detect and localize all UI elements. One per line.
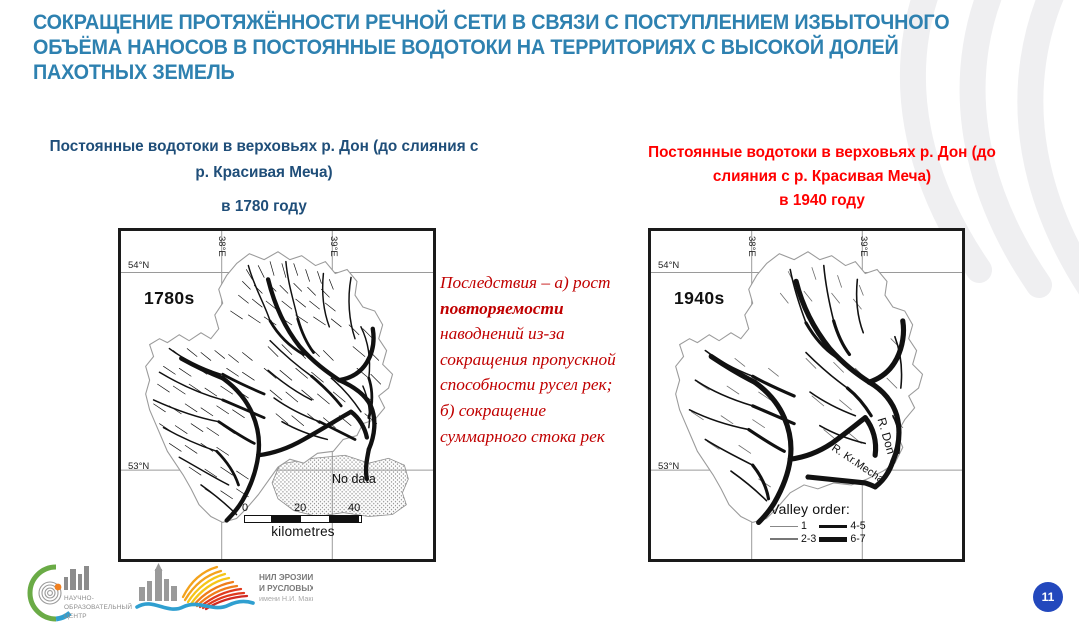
map-1940s-decade-label: 1940s [674,288,725,309]
legend-label-4-5: 4-5 [850,520,868,533]
map-1780s: 1780s 54°N 53°N 38°E 39°E No data 0 20 4… [118,228,436,562]
left-caption-year: в 1780 году [48,194,480,220]
scale-tick-0: 0 [242,502,248,514]
scale-tick-20: 20 [294,502,306,514]
page-number-badge: 11 [1033,582,1063,612]
slide-root: СОКРАЩЕНИЕ ПРОТЯЖЁННОСТИ РЕЧНОЙ СЕТИ В С… [0,0,1079,626]
logo-scientific-educational-center: НАУЧНО- ОБРАЗОВАТЕЛЬНЫЙ ЦЕНТР [26,563,138,623]
consequences-part-2: наводнений из-за сокращения пропускной с… [440,324,616,394]
logo-noc-line3: ЦЕНТР [64,613,87,620]
map-1780s-no-data-label: No data [332,472,376,486]
legend-label-2-3: 2-3 [801,533,819,546]
legend-title: Valley order: [770,502,920,518]
valley-order-legend: Valley order: 1 4-5 2-3 6-7 [770,502,920,546]
map-1780s-lat-54n: 54°N [128,260,149,271]
map-1780s-lon-38e: 38°E [216,236,227,257]
legend-swatch-4-5 [819,520,850,533]
page-title: СОКРАЩЕНИЕ ПРОТЯЖЁННОСТИ РЕЧНОЙ СЕТИ В С… [33,10,962,85]
right-caption-line1: Постоянные водотоки в верховьях р. Дон (… [596,141,1048,165]
consequences-part-3: б) сокращение суммарного стока рек [440,401,605,446]
logo-noc-line1: НАУЧНО- [64,595,94,602]
consequences-text-block: Последствия – а) рост повторяемости наво… [440,270,626,449]
map-1780s-decade-label: 1780s [144,288,195,309]
consequences-part-1: Последствия – а) рост [440,273,611,292]
map-1940s-lat-54n: 54°N [658,260,679,271]
right-caption-line3: в 1940 году [596,189,1048,213]
logo-nil-line3: имени Н.И. Маккавеева [259,594,313,603]
logo-nil-line1: НИЛ ЭРОЗИИ ПОЧВ [259,573,313,582]
logo-nil-erosion-lab: НИЛ ЭРОЗИИ ПОЧВ И РУСЛОВЫХ ПРОЦЕССОВ име… [133,563,313,615]
map-1940s-lon-39e: 39°E [858,236,869,257]
legend-label-6-7: 6-7 [850,533,868,546]
logo-nil-line2: И РУСЛОВЫХ ПРОЦЕССОВ [259,584,313,593]
map-1940s: 1940s 54°N 53°N 38°E 39°E R. Don R. Kr.M… [648,228,965,562]
consequences-emphasis: повторяемости [440,299,564,318]
map-1780s-lat-53n: 53°N [128,461,149,472]
left-panel-caption: Постоянные водотоки в верховьях р. Дон (… [48,134,480,220]
right-panel-caption: Постоянные водотоки в верховьях р. Дон (… [596,141,1048,213]
right-caption-line2: слияния с р. Красивая Меча) [596,165,1048,189]
scale-unit-label: kilometres [244,524,362,539]
map-1780s-scale-bar: 0 20 40 kilometres [244,502,362,539]
legend-swatch-1 [770,520,801,533]
logo-noc-line2: ОБРАЗОВАТЕЛЬНЫЙ [64,602,132,611]
left-caption-main: Постоянные водотоки в верховьях р. Дон (… [50,138,479,181]
scale-bar-graphic [244,515,362,523]
legend-label-1: 1 [801,520,819,533]
scale-tick-40: 40 [348,502,360,514]
map-1780s-lon-39e: 39°E [328,236,339,257]
map-1940s-lat-53n: 53°N [658,461,679,472]
map-1940s-lon-38e: 38°E [746,236,757,257]
legend-swatch-2-3 [770,533,801,546]
legend-swatch-6-7 [819,533,850,546]
